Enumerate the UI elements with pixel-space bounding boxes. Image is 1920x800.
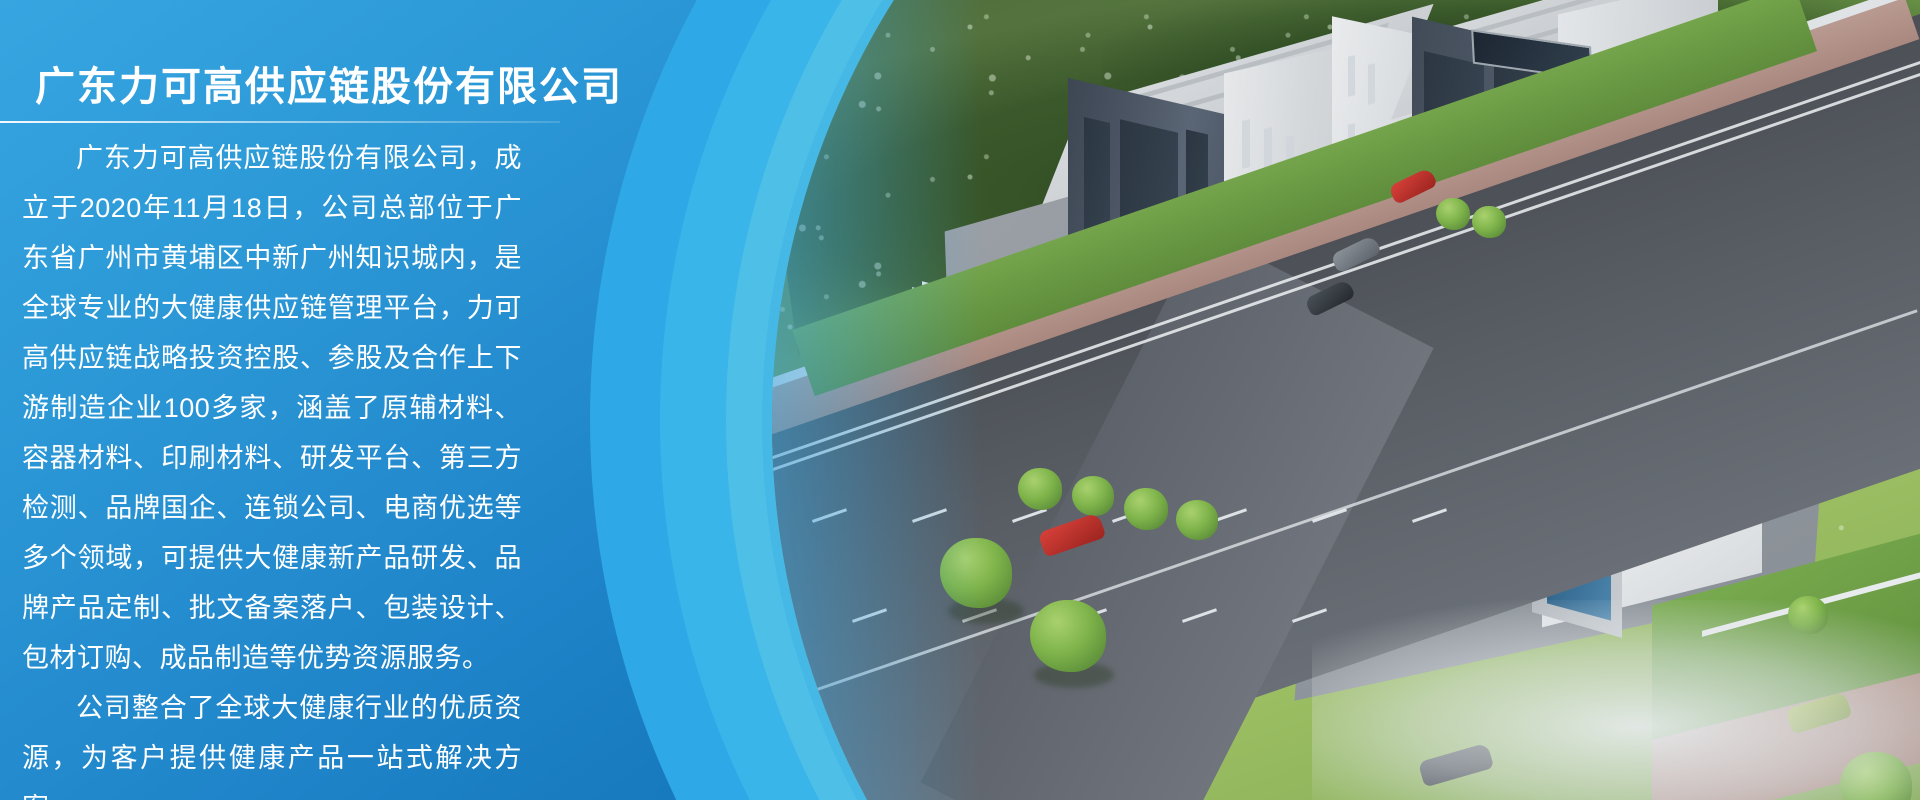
text-panel: 广东力可高供应链股份有限公司 广东力可高供应链股份有限公司，成立于2020年11… [0,0,620,800]
tree-6 [1176,500,1218,540]
tree-3 [1018,468,1062,510]
tree-5 [1124,488,1168,530]
paragraph-2: 公司整合了全球大健康行业的优质资源，为客户提供健康产品一站式解决方案。 [22,683,522,800]
window-slit-1 [1242,119,1250,169]
building-photo: 广东力可高供应链产业园 [772,0,1920,800]
company-profile-banner: 广东力可高供应链产业园 [0,0,1920,800]
connector-window-1 [1348,55,1355,96]
tree-9 [1436,198,1470,230]
company-description: 广东力可高供应链股份有限公司，成立于2020年11月18日，公司总部位于广东省广… [22,133,522,800]
building-photo-disc: 广东力可高供应链产业园 [772,0,1920,800]
photo-left-fade [772,0,982,800]
tree-4 [1072,476,1114,516]
foreground-mist [1312,600,1920,800]
title-divider [0,121,560,123]
connector-window-2 [1368,63,1375,104]
paragraph-1: 广东力可高供应链股份有限公司，成立于2020年11月18日，公司总部位于广东省广… [22,133,522,683]
tree-2 [1030,600,1106,672]
tree-10 [1472,206,1506,238]
page-title: 广东力可高供应链股份有限公司 [35,54,623,112]
